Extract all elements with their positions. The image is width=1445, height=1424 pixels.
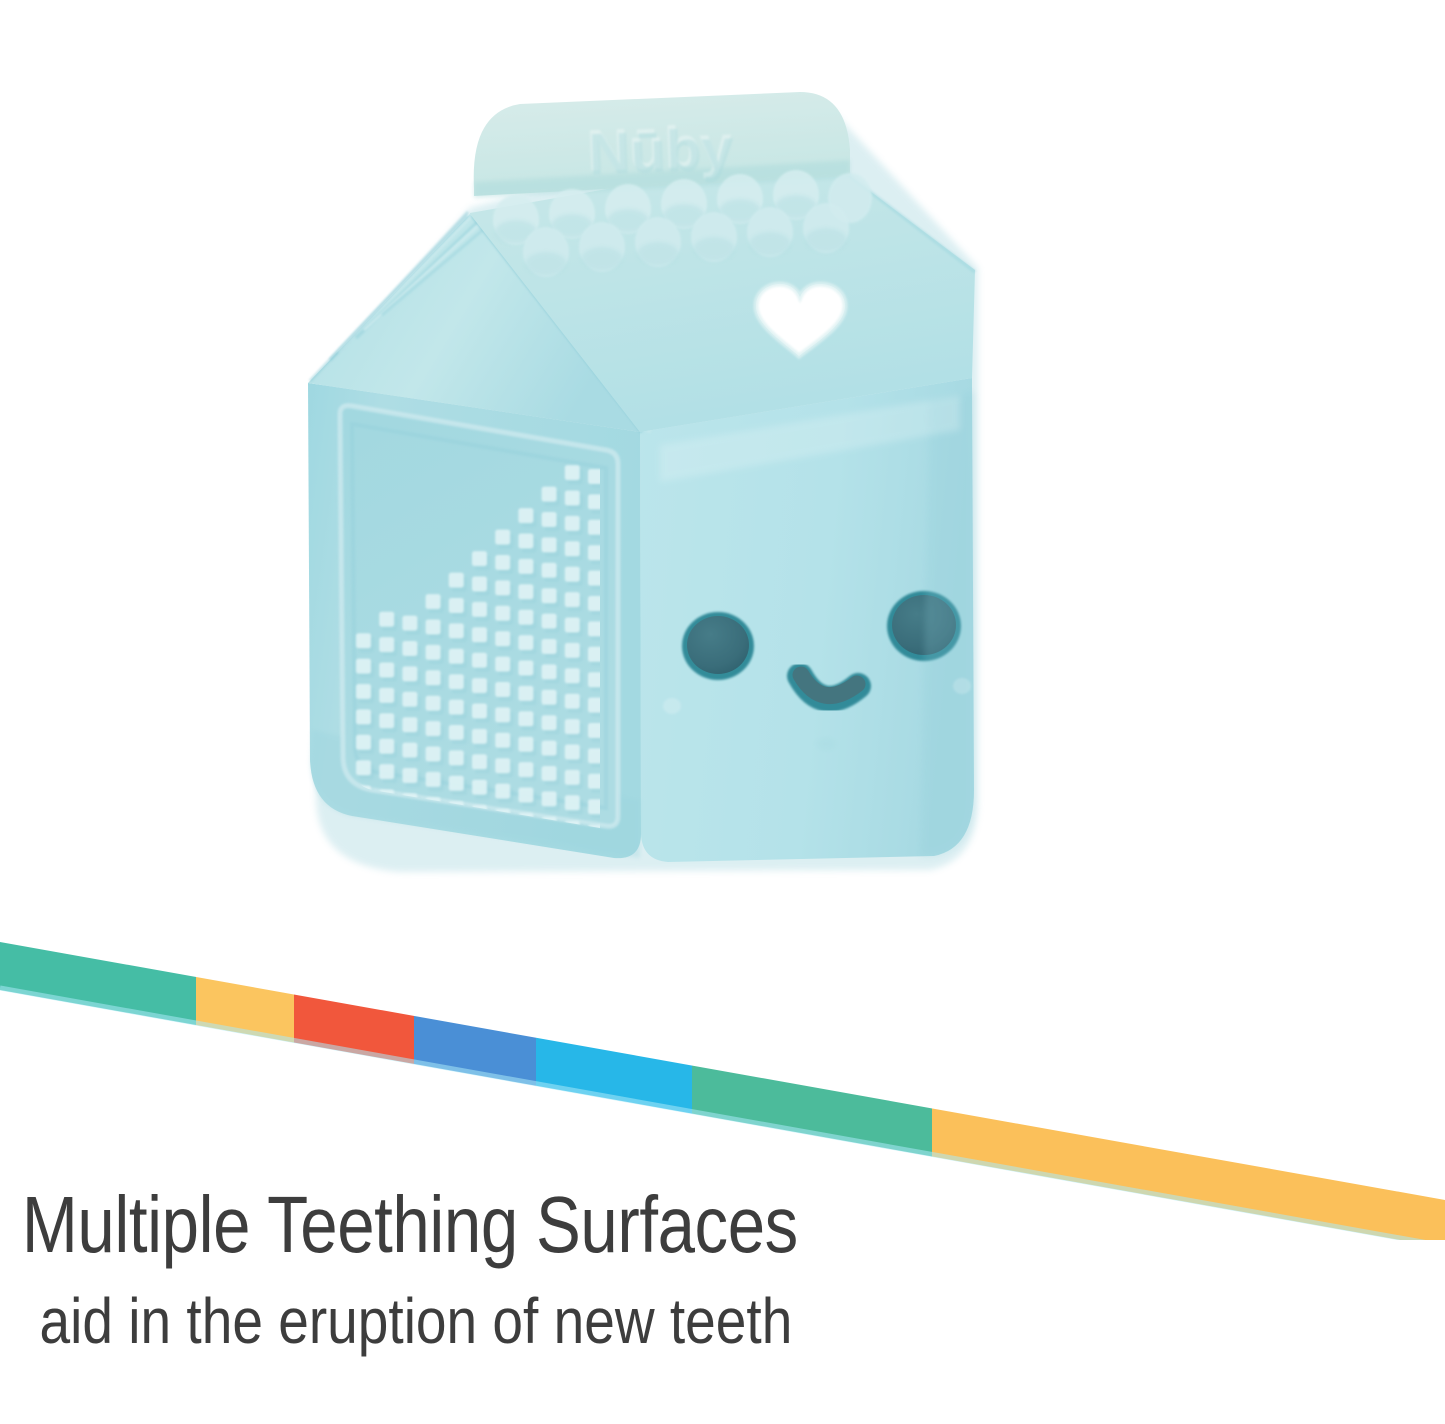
teething-nub: [356, 709, 371, 724]
subheadline: aid in the eruption of new teeth: [0, 1265, 1243, 1353]
teething-nub: [495, 784, 510, 799]
teething-nub: [565, 465, 580, 480]
left-eye: [682, 612, 754, 680]
teething-nub: [565, 694, 580, 709]
teething-nub: [472, 754, 487, 769]
teething-nub: [379, 688, 394, 703]
teething-nub: [542, 639, 557, 654]
teething-nub: [495, 758, 510, 773]
teething-nub: [495, 707, 510, 722]
teething-nub: [402, 666, 417, 681]
teething-nub: [518, 788, 533, 803]
teething-nub: [426, 747, 441, 762]
mold-dimple: [816, 737, 836, 751]
teething-nub: [495, 580, 510, 595]
teething-nub: [542, 741, 557, 756]
headline: Multiple Teething Surfaces: [0, 1185, 1214, 1265]
teething-nub: [426, 696, 441, 711]
teething-nub: [565, 719, 580, 734]
teething-nub: [542, 537, 557, 552]
teething-nub: [356, 735, 371, 750]
teething-nub: [472, 653, 487, 668]
teething-nub: [449, 598, 464, 613]
teething-nub: [356, 760, 371, 775]
teething-nub: [542, 487, 557, 502]
teething-nub: [402, 717, 417, 732]
teething-nub: [472, 678, 487, 693]
teething-nub: [542, 614, 557, 629]
teething-nub: [449, 649, 464, 664]
teething-nub: [495, 733, 510, 748]
teething-nub: [426, 645, 441, 660]
teething-nub: [518, 737, 533, 752]
teething-nub: [518, 711, 533, 726]
teething-nub: [379, 612, 394, 627]
teething-nub: [542, 563, 557, 578]
teething-nub: [495, 657, 510, 672]
teething-nub: [542, 512, 557, 527]
teething-nub: [426, 594, 441, 609]
teething-nub: [495, 606, 510, 621]
teething-nub: [518, 661, 533, 676]
teething-nub: [565, 592, 580, 607]
teething-nub: [356, 633, 371, 648]
teething-nub: [565, 795, 580, 810]
teething-nub: [542, 791, 557, 806]
teething-nub: [402, 641, 417, 656]
teething-nub: [379, 663, 394, 678]
teething-nub: [449, 776, 464, 791]
teething-nub: [449, 750, 464, 765]
teething-nub: [426, 670, 441, 685]
teething-nub: [495, 555, 510, 570]
teething-nub: [449, 674, 464, 689]
teething-nub: [495, 631, 510, 646]
brand-emboss: Nūby Nūby: [586, 114, 735, 188]
teething-nub: [565, 618, 580, 633]
teething-nub: [472, 551, 487, 566]
teething-nub: [518, 508, 533, 523]
teething-nub: [472, 780, 487, 795]
teething-nub: [542, 715, 557, 730]
teething-nub: [356, 659, 371, 674]
teething-nub: [565, 745, 580, 760]
teething-nub: [449, 623, 464, 638]
teething-nub: [472, 704, 487, 719]
teething-nub: [402, 692, 417, 707]
teething-nub: [449, 573, 464, 588]
teething-nub: [379, 637, 394, 652]
teething-nub: [565, 770, 580, 785]
teething-nub: [518, 584, 533, 599]
teething-nub: [402, 768, 417, 783]
teething-nub: [449, 700, 464, 715]
teething-nub: [356, 684, 371, 699]
teething-nub: [565, 516, 580, 531]
teething-nub: [542, 664, 557, 679]
teething-nub: [426, 772, 441, 787]
teething-nub: [565, 491, 580, 506]
brand-text-shadow: Nūby: [588, 118, 735, 188]
caption-block: Multiple Teething Surfaces aid in the er…: [0, 1185, 1445, 1353]
teething-nub: [472, 577, 487, 592]
teething-nub: [426, 620, 441, 635]
teething-nub: [518, 635, 533, 650]
teething-nub: [565, 541, 580, 556]
teething-nub: [426, 721, 441, 736]
teething-nub: [402, 616, 417, 631]
teething-nub: [472, 627, 487, 642]
teething-nub: [472, 729, 487, 744]
teething-nub: [449, 725, 464, 740]
teething-nub: [379, 764, 394, 779]
teething-nub: [495, 682, 510, 697]
product-marketing-image: Nūby Nūby: [0, 0, 1445, 1424]
teething-nub: [402, 743, 417, 758]
teething-nub: [565, 567, 580, 582]
product-photo: Nūby Nūby: [0, 0, 1445, 940]
teething-nub: [379, 739, 394, 754]
teething-nub: [542, 690, 557, 705]
teething-nub: [565, 643, 580, 658]
mold-dimple: [663, 698, 681, 714]
teething-nub: [565, 668, 580, 683]
teething-nub: [518, 686, 533, 701]
teething-nub: [379, 713, 394, 728]
milk-carton-teether-illustration: Nūby Nūby: [0, 0, 1445, 940]
teething-nub: [518, 534, 533, 549]
teething-nub: [542, 588, 557, 603]
teething-nub: [518, 559, 533, 574]
teething-nub: [542, 766, 557, 781]
teething-nub: [495, 530, 510, 545]
teething-nub: [472, 602, 487, 617]
teething-nub: [518, 610, 533, 625]
teething-nub: [518, 762, 533, 777]
